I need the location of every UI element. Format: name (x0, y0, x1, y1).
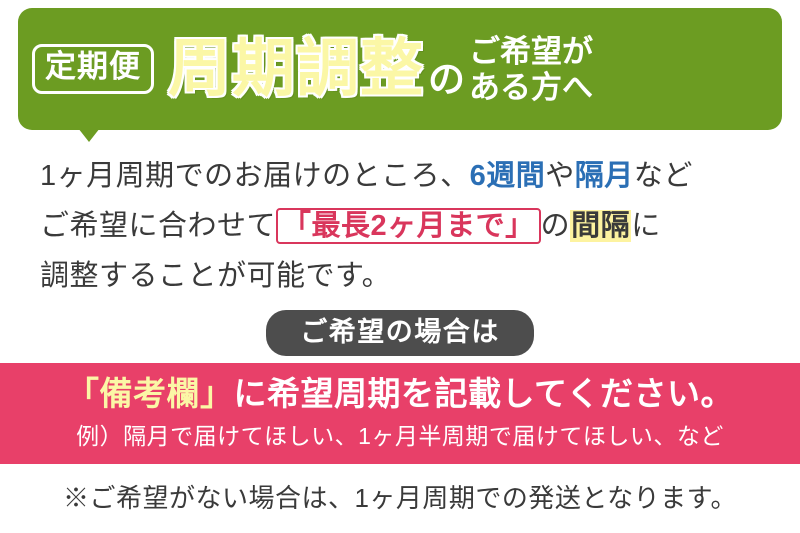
pink-instruction-band: 「備考欄」に希望周期を記載してください。 例）隔月で届けてほしい、1ヶ月半周期で… (0, 363, 800, 464)
banner-main-title: 周期調整 (168, 38, 424, 101)
body-line-2: ご希望に合わせて「最長2ヶ月まで」の間隔に (40, 202, 760, 252)
body-line-3: 調整することが可能です。 (40, 252, 760, 302)
dark-label-row: ご希望の場合は (0, 310, 800, 356)
body-line1-part1: 1ヶ月周期でのお届けのところ、 (40, 160, 470, 192)
body-line1-part2: や (545, 160, 575, 192)
body-line2-highlight-interval: 間隔 (570, 210, 631, 242)
banner-subtitle: ご希望が ある方へ (469, 32, 593, 106)
promo-page: 定期便 周期調整 の ご希望が ある方へ 1ヶ月周期でのお届けのところ、6週間や… (0, 0, 800, 533)
pink-example-text: 例）隔月で届けてほしい、1ヶ月半周期で届けてほしい、など (0, 420, 800, 452)
body-line2-part3: に (631, 210, 661, 242)
body-paragraph: 1ヶ月周期でのお届けのところ、6週間や隔月など ご希望に合わせて「最長2ヶ月まで… (0, 142, 800, 302)
green-banner: 定期便 周期調整 の ご希望が ある方へ (18, 8, 782, 130)
banner-section: 定期便 周期調整 の ご希望が ある方へ (0, 0, 800, 142)
body-line1-highlight-bimonthly: 隔月 (575, 160, 634, 192)
request-case-label: ご希望の場合は (266, 310, 534, 356)
footer-note: ※ご希望がない場合は、1ヶ月周期での発送となります。 (0, 464, 800, 515)
body-line1-part3: など (634, 160, 693, 192)
pink-main-part2: に (233, 375, 267, 412)
banner-subtitle-line2: ある方へ (469, 70, 593, 106)
body-line1-highlight-6weeks: 6週間 (470, 160, 546, 192)
pink-main-part4: を記載してください。 (401, 375, 734, 412)
body-line-1: 1ヶ月周期でのお届けのところ、6週間や隔月など (40, 152, 760, 202)
body-line2-part2: の (541, 210, 571, 242)
body-line2-boxed-max-interval: 「最長2ヶ月まで」 (276, 208, 541, 244)
banner-pointer-triangle (78, 128, 100, 142)
pink-main-remarks-column: 「備考欄」 (66, 375, 234, 412)
body-line2-part1: ご希望に合わせて (40, 210, 276, 242)
pink-main-text: 「備考欄」に希望周期を記載してください。 (0, 373, 800, 416)
pink-main-desired-cycle: 希望周期 (267, 375, 401, 412)
banner-particle: の (428, 49, 465, 103)
banner-subtitle-line1: ご希望が (469, 34, 593, 70)
subscription-pill-label: 定期便 (32, 44, 154, 93)
